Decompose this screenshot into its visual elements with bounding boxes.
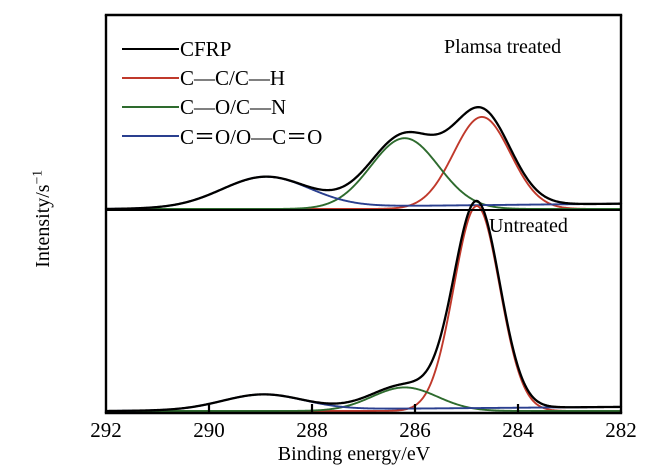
legend-label-cfrp: CFRP (180, 37, 231, 62)
legend-item-co-cn: C—O/C—N (122, 96, 286, 118)
legend-item-cc-ch: C—C/C—H (122, 67, 285, 89)
xtick-label-290: 290 (193, 418, 225, 443)
x-axis-title: Binding energy/eV (0, 443, 656, 466)
legend-label-co-oco: C＝O/O—C＝O (180, 121, 322, 151)
legend-swatch-cc-ch (122, 77, 179, 79)
legend-label-co-cn: C—O/C—N (180, 95, 286, 120)
panel-annotation-untreated: Untreated (489, 215, 568, 238)
y-axis-title-exponent: −1 (29, 170, 44, 184)
legend-swatch-co-oco (122, 135, 179, 137)
xtick-label-286: 286 (399, 418, 431, 443)
xps-figure: 292 290 288 286 284 282 Binding energy/e… (0, 0, 656, 474)
panel-annotation-plasma-treated: Plamsa treated (444, 36, 561, 59)
x-axis-title-text: Binding energy/eV (226, 443, 430, 465)
xtick-label-282: 282 (605, 418, 637, 443)
xtick-label-284: 284 (502, 418, 534, 443)
legend-label-cc-ch: C—C/C—H (180, 66, 285, 91)
xtick-label-292: 292 (90, 418, 122, 443)
legend-item-cfrp: CFRP (122, 38, 231, 60)
legend-item-co-oco: C＝O/O—C＝O (122, 125, 322, 147)
xtick-label-288: 288 (296, 418, 328, 443)
y-axis-title: Intensity/s−1 (29, 79, 55, 359)
spectra-curves (106, 107, 621, 411)
legend-swatch-cfrp (122, 48, 179, 50)
legend-swatch-co-cn (122, 106, 179, 108)
y-axis-title-text: Intensity/s (32, 184, 54, 267)
